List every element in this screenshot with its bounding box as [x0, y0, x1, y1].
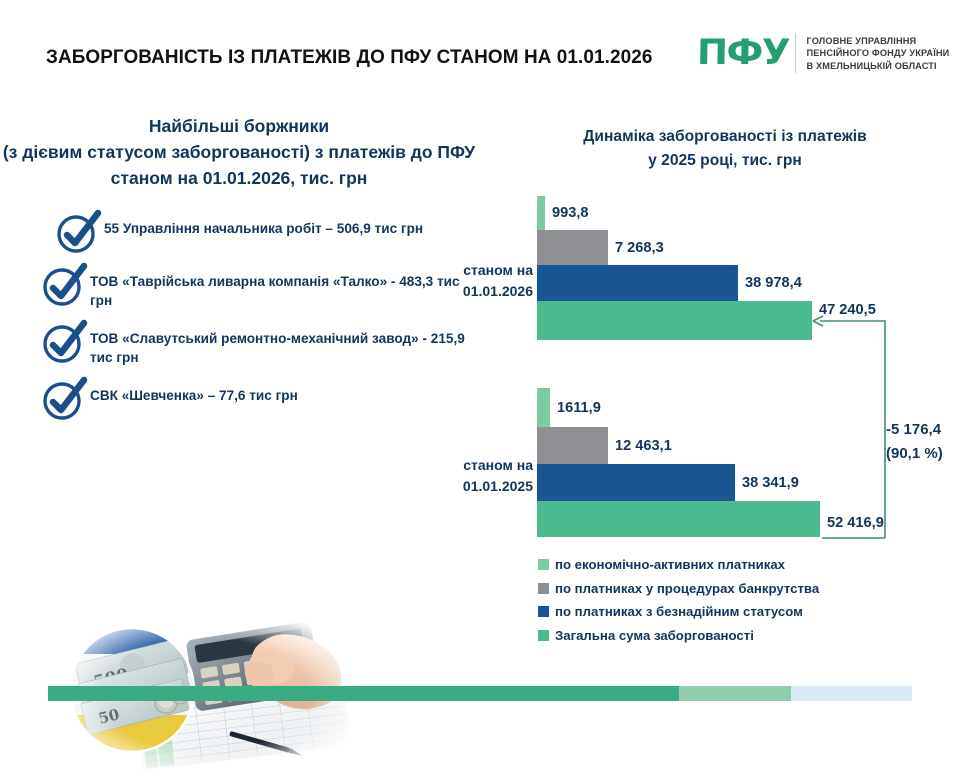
- bar-fill: [537, 230, 608, 265]
- category-label-2026-line-1: станом на: [423, 260, 533, 281]
- category-label-2025-line-1: станом на: [423, 455, 533, 476]
- page-title: ЗАБОРГОВАНІСТЬ ІЗ ПЛАТЕЖІВ ДО ПФУ СТАНОМ…: [46, 46, 652, 69]
- legend-label: Загальна сума заборгованості: [555, 628, 754, 643]
- footer-segment-3: [791, 686, 912, 701]
- bar-value-label: 38 341,9: [742, 475, 799, 491]
- bar-fill: [537, 464, 735, 501]
- bar-2026-hopeless-status: 38 978,4: [537, 265, 738, 301]
- bar-2026-bankruptcy: 7 268,3: [537, 230, 608, 265]
- legend-item-total-debt: Загальна сума заборгованості: [538, 628, 819, 643]
- chart-legend: по економічно-активних платниках по плат…: [538, 557, 819, 651]
- top-debtors-title-line-3: станом на 01.01.2026, тис. грн: [0, 165, 478, 191]
- chart-plot-area: станом на 01.01.2026 993,8 7 268,3 38 97…: [420, 105, 960, 675]
- bar-value-label: 993,8: [552, 205, 589, 221]
- top-debtors-title-line-1: Найбільші боржники: [0, 113, 478, 139]
- legend-swatch-icon: [538, 630, 549, 641]
- legend-label: по платниках у процедурах банкрутства: [555, 581, 819, 596]
- pfu-logo-mark: ПФУ: [697, 36, 789, 71]
- check-circle-icon: [56, 213, 104, 253]
- logo-divider: [795, 33, 796, 73]
- delta-bracket-annotation: [810, 310, 895, 540]
- bar-value-label: 12 463,1: [615, 438, 672, 454]
- check-circle-icon: [42, 323, 90, 363]
- bar-value-label: 38 978,4: [745, 275, 802, 291]
- list-item: СВК «Шевченка» – 77,6 тис грн: [14, 380, 484, 420]
- bar-fill: [537, 196, 545, 230]
- legend-swatch-icon: [538, 583, 549, 594]
- legend-item-bankruptcy: по платниках у процедурах банкрутства: [538, 581, 819, 596]
- logo-line-2: ПЕНСІЙНОГО ФОНДУ УКРАЇНИ: [807, 48, 950, 58]
- check-circle-icon: [42, 266, 90, 306]
- legend-item-economically-active: по економічно-активних платниках: [538, 557, 819, 572]
- footer-bar: [48, 686, 912, 701]
- footer-segment-2: [679, 686, 791, 701]
- legend-label: по економічно-активних платниках: [555, 557, 785, 572]
- bar-fill: [537, 388, 550, 427]
- bar-fill: [537, 265, 738, 301]
- list-item: ТОВ «Славутський ремонтно-механічний зав…: [14, 323, 484, 367]
- bar-2025-total-debt: 52 416,9: [537, 501, 820, 537]
- delta-percent: (90,1 %): [886, 442, 943, 466]
- bar-2025-hopeless-status: 38 341,9: [537, 464, 735, 501]
- legend-label: по платниках з безнадійним статусом: [555, 604, 803, 619]
- top-debtors-title-line-2: (з дієвим статусом заборгованості) з пла…: [0, 139, 478, 165]
- category-label-2026: станом на 01.01.2026: [423, 260, 533, 302]
- logo-line-3: В ХМЕЛЬНИЦЬКІЙ ОБЛАСТІ: [807, 61, 950, 71]
- bar-value-label: 7 268,3: [615, 240, 664, 256]
- bar-2025-economically-active: 1611,9: [537, 388, 550, 427]
- top-debtors-title: Найбільші боржники (з дієвим статусом за…: [0, 113, 478, 191]
- bar-2025-bankruptcy: 12 463,1: [537, 427, 608, 464]
- header: ЗАБОРГОВАНІСТЬ ІЗ ПЛАТЕЖІВ ДО ПФУ СТАНОМ…: [0, 0, 960, 100]
- list-item-label: 55 Управління начальника робіт – 506,9 т…: [104, 213, 423, 238]
- category-label-2025: станом на 01.01.2025: [423, 455, 533, 497]
- logo-line-1: ГОЛОВНЕ УПРАВЛІННЯ: [807, 36, 950, 46]
- delta-value: -5 176,4: [886, 418, 943, 442]
- debt-dynamics-chart: Динаміка заборгованості із платежів у 20…: [420, 105, 960, 675]
- delta-annotation-text: -5 176,4 (90,1 %): [886, 418, 943, 466]
- infographic-page: ЗАБОРГОВАНІСТЬ ІЗ ПЛАТЕЖІВ ДО ПФУ СТАНОМ…: [0, 0, 960, 720]
- bar-2026-total-debt: 47 240,5: [537, 301, 812, 340]
- bar-fill: [537, 427, 608, 464]
- pfu-logo: ПФУ ГОЛОВНЕ УПРАВЛІННЯ ПЕНСІЙНОГО ФОНДУ …: [697, 33, 949, 73]
- list-item: ТОВ «Таврійська ливарна компанія «Талко»…: [14, 266, 484, 310]
- debtor-list: 55 Управління начальника робіт – 506,9 т…: [14, 213, 484, 433]
- list-item-label: СВК «Шевченка» – 77,6 тис грн: [90, 380, 298, 405]
- legend-item-hopeless-status: по платниках з безнадійним статусом: [538, 604, 819, 619]
- legend-swatch-icon: [538, 559, 549, 570]
- category-label-2025-line-2: 01.01.2025: [423, 476, 533, 497]
- bar-fill: [537, 501, 820, 537]
- category-label-2026-line-2: 01.01.2026: [423, 281, 533, 302]
- list-item: 55 Управління начальника робіт – 506,9 т…: [14, 213, 484, 253]
- check-circle-icon: [42, 380, 90, 420]
- footer-segment-1: [48, 686, 679, 701]
- bar-2026-economically-active: 993,8: [537, 196, 545, 230]
- bar-value-label: 1611,9: [557, 400, 601, 416]
- logo-subtitle: ГОЛОВНЕ УПРАВЛІННЯ ПЕНСІЙНОГО ФОНДУ УКРА…: [807, 36, 950, 71]
- bar-fill: [537, 301, 812, 340]
- legend-swatch-icon: [538, 606, 549, 617]
